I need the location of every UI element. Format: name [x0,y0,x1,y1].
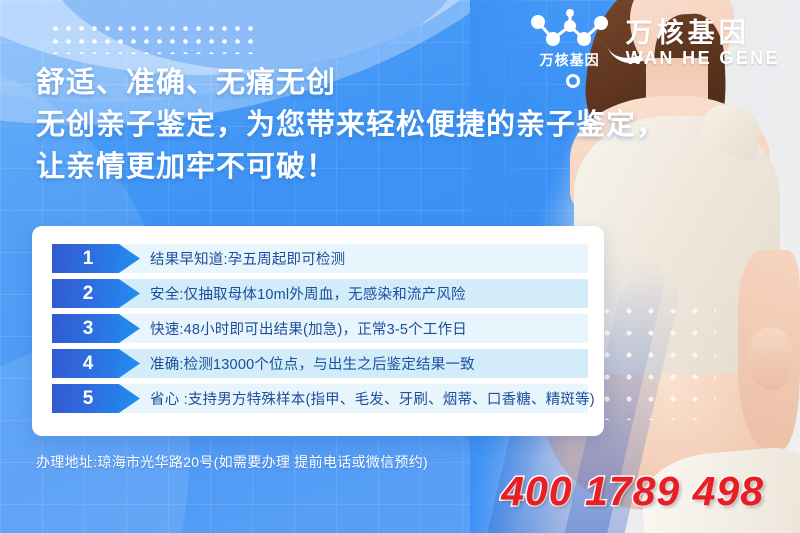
molecule-icon: 万核基因 [522,8,618,76]
contact-phone-number[interactable]: 400 1789 498 [501,468,764,515]
feature-row: 2 安全:仅抽取母体10ml外周血，无感染和流产风险 [52,279,588,308]
promo-poster: 万核基因 万核基因 WAN HE GENE 舒适、准确、无痛无创 无创亲子鉴定，… [0,0,800,533]
feature-row-text: 结果早知道:孕五周起即可检测 [150,248,345,269]
feature-row-text: 省心 :支持男方特殊样本(指甲、毛发、牙刷、烟蒂、口香糖、精斑等) [150,388,595,409]
headline-line-2: 无创亲子鉴定，为您带来轻松便捷的亲子鉴定， [36,104,666,146]
brand-text: 万核基因 WAN HE GENE [626,15,780,69]
feature-row: 4 准确:检测13000个位点，与出生之后鉴定结果一致 [52,349,588,378]
logo-mark-label: 万核基因 [526,50,614,70]
logo-ring-icon [566,74,580,88]
brand-name-cn: 万核基因 [626,19,780,47]
dot-pattern-right [596,300,716,420]
dot-pattern-top-left [49,22,255,54]
feature-card: 1 结果早知道:孕五周起即可检测 2 安全:仅抽取母体10ml外周血，无感染和流… [32,226,604,436]
feature-row: 3 快速:48小时即可出结果(加急)，正常3-5个工作日 [52,314,588,343]
feature-row-text: 准确:检测13000个位点，与出生之后鉴定结果一致 [150,353,475,374]
feature-row: 1 结果早知道:孕五周起即可检测 [52,244,588,273]
photo-hand [748,328,792,390]
feature-row: 5 省心 :支持男方特殊样本(指甲、毛发、牙刷、烟蒂、口香糖、精斑等) [52,384,588,413]
brand-name-en: WAN HE GENE [626,48,780,69]
headline-line-3: 让亲情更加牢不可破！ [36,146,666,188]
brand-logo[interactable]: 万核基因 万核基因 WAN HE GENE [522,8,780,76]
feature-row-text: 快速:48小时即可出结果(加急)，正常3-5个工作日 [150,318,467,339]
office-address: 办理地址:琼海市光华路20号(如需要办理 提前电话或微信预约) [36,452,428,472]
feature-row-text: 安全:仅抽取母体10ml外周血，无感染和流产风险 [150,283,466,304]
